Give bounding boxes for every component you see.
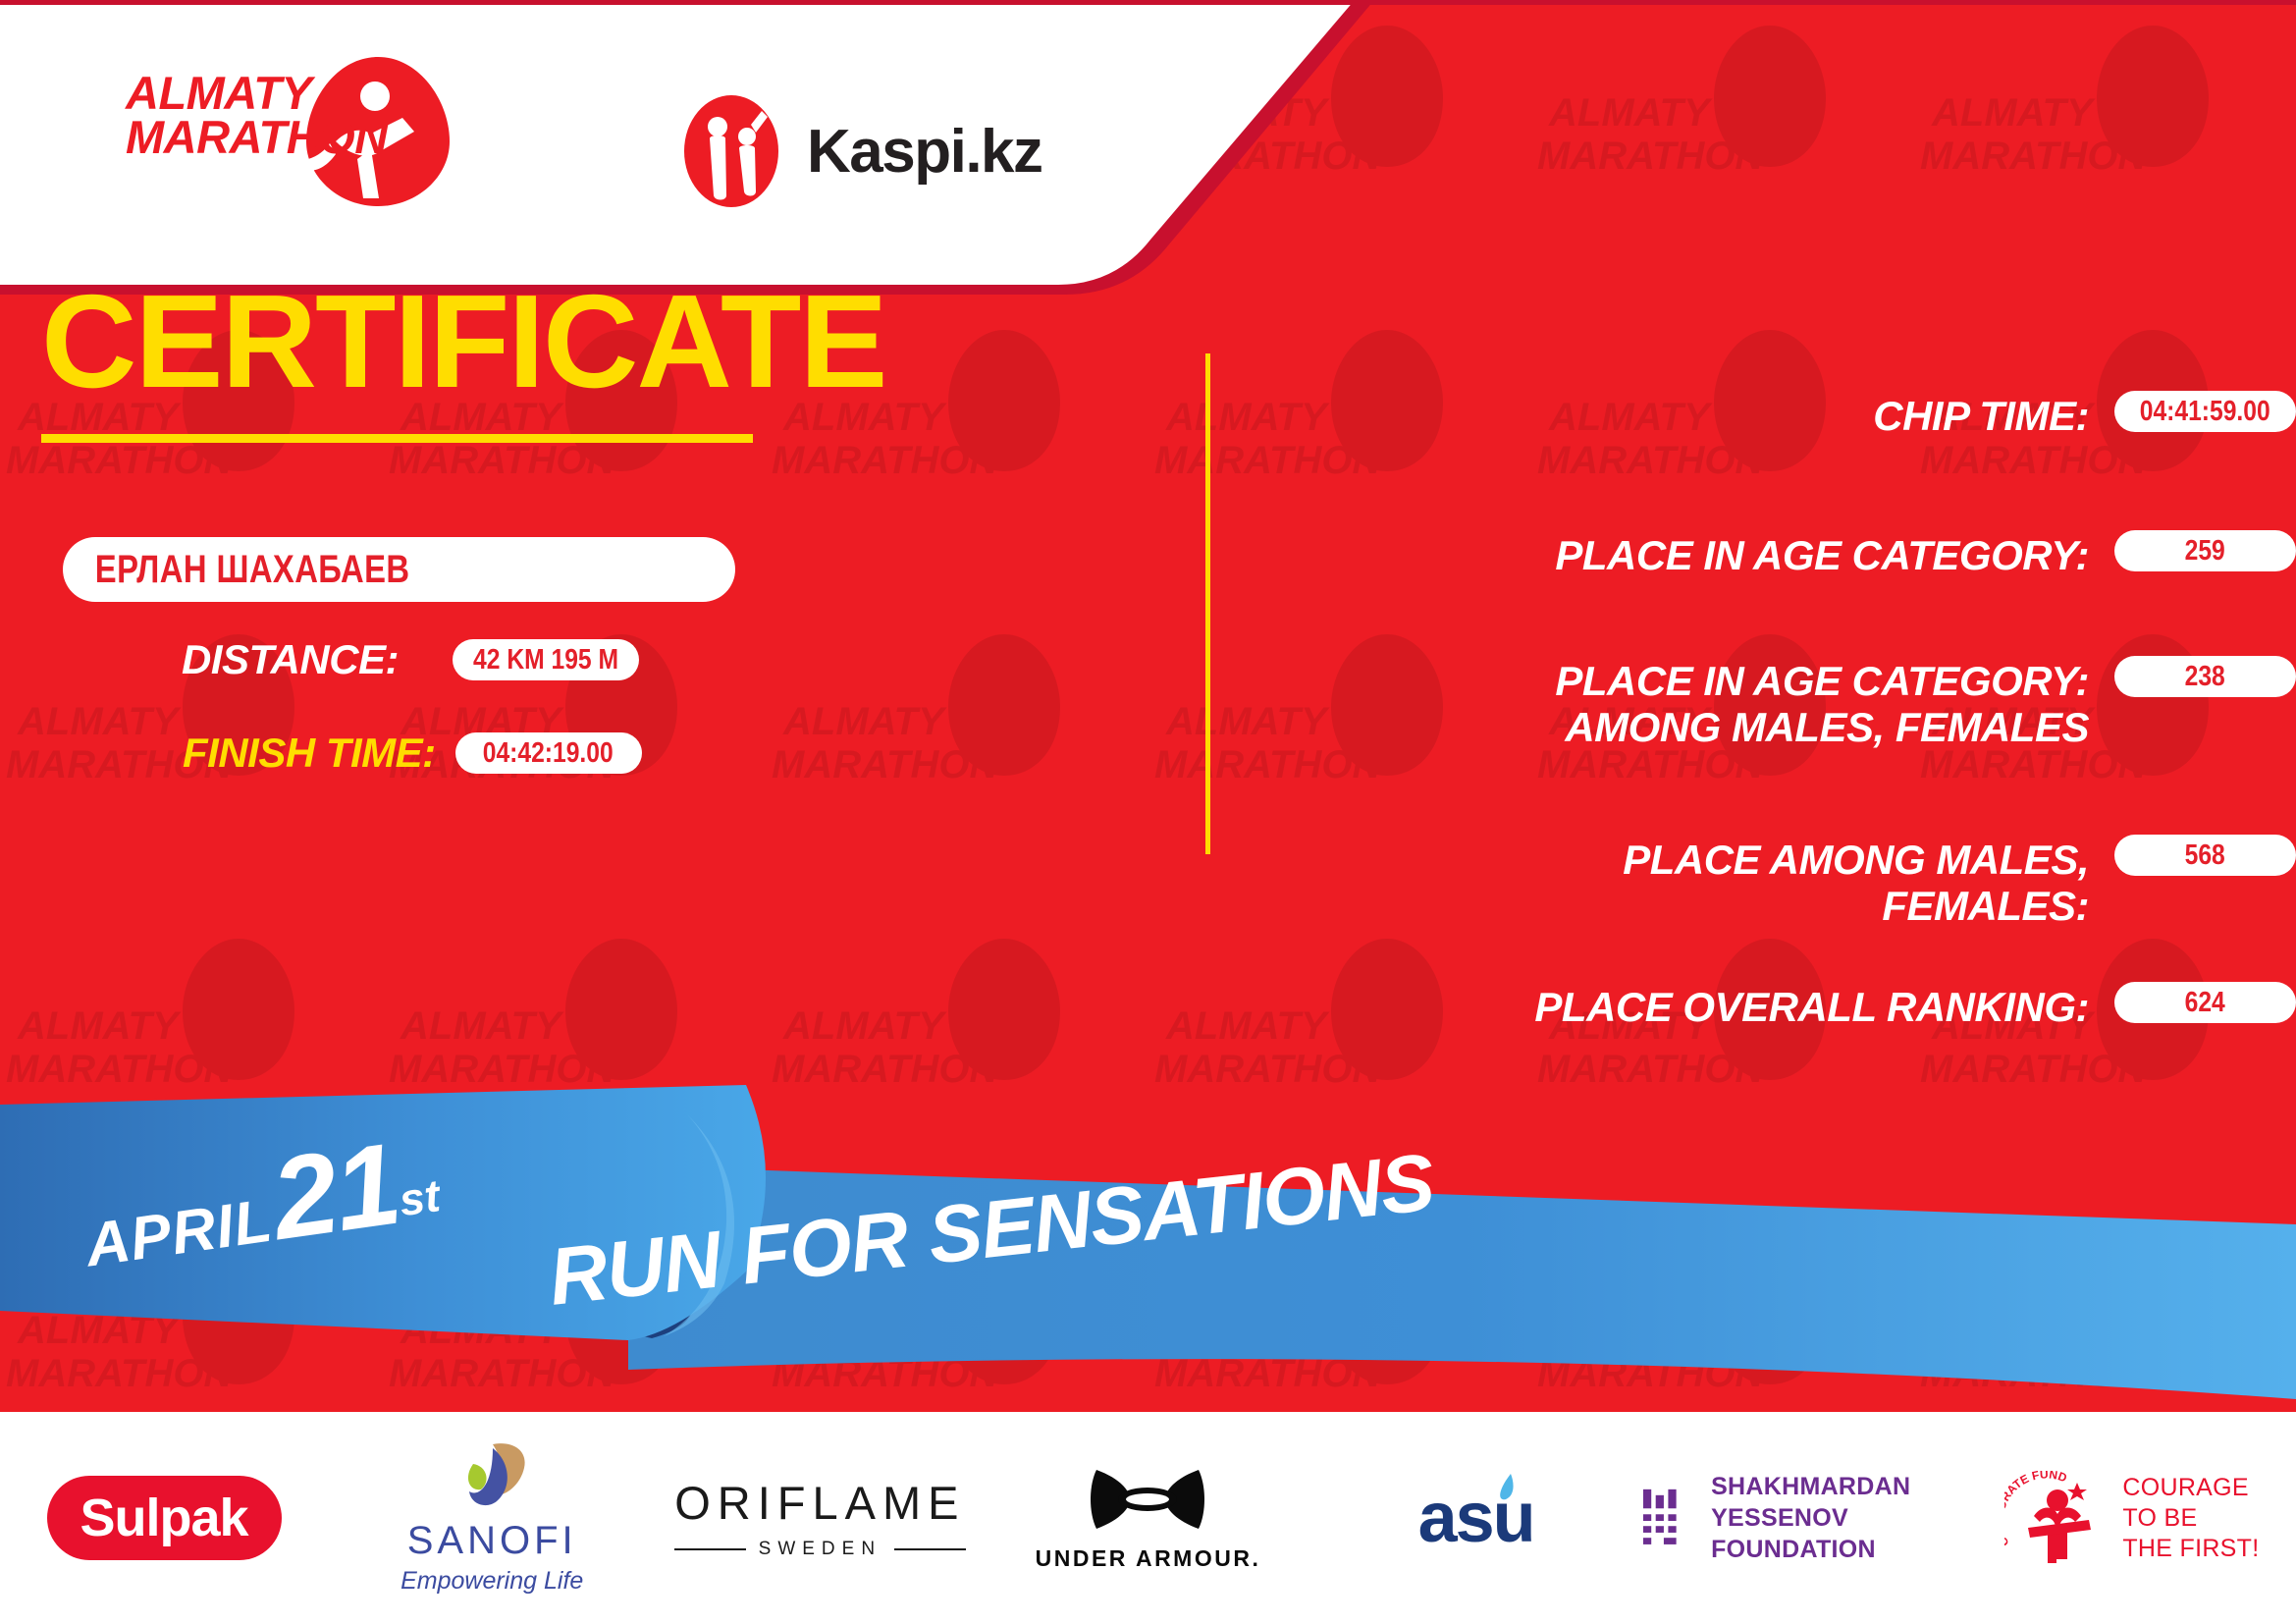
ribbon-month: APRIL — [81, 1187, 277, 1280]
place-overall-value: 624 — [2185, 987, 2225, 1019]
place-age-category-value: 259 — [2185, 535, 2225, 568]
place-age-category-row: PLACE IN AGE CATEGORY: 259 — [1232, 530, 2296, 578]
yessenov-foundation-logo-icon — [1640, 1478, 1685, 1558]
place-overall-row: PLACE OVERALL RANKING: 624 — [1232, 982, 2296, 1030]
under-armour-logo-icon — [1085, 1464, 1210, 1539]
sponsor-sanofi: SANOFI Empowering Life — [328, 1435, 656, 1601]
place-among-gender-value-pill: 568 — [2114, 835, 2296, 876]
asu-drop-icon — [1493, 1472, 1519, 1505]
kaspi-logo: Kaspi.kz — [677, 93, 1042, 209]
place-overall-label: PLACE OVERALL RANKING: — [1232, 982, 2114, 1030]
participant-name: ЕРЛАН ШАХАБАЕВ — [63, 548, 410, 592]
oriflame-label: ORIFLAME — [674, 1476, 965, 1530]
sanofi-label: SANOFI — [407, 1519, 577, 1563]
oriflame-rule-left — [674, 1548, 745, 1550]
chip-time-row: CHIP TIME: 04:41:59.00 — [1232, 391, 2296, 439]
almaty-marathon-wordmark: ALMATY MARATHON — [126, 71, 381, 159]
finish-time-row: FINISH TIME: 04:42:19.00 — [183, 730, 642, 777]
distance-value: 42 KM 195 M — [473, 644, 618, 677]
place-among-gender-value: 568 — [2185, 839, 2225, 872]
sulpak-logo-icon: Sulpak — [47, 1476, 282, 1560]
sulpak-label: Sulpak — [80, 1488, 248, 1548]
place-age-category-gender-value: 238 — [2185, 661, 2225, 693]
distance-value-pill: 42 KM 195 M — [453, 639, 639, 680]
sponsor-oriflame: ORIFLAME SWEDEN — [656, 1435, 984, 1601]
oriflame-tagline: SWEDEN — [759, 1539, 881, 1560]
finish-time-value-pill: 04:42:19.00 — [455, 732, 642, 774]
finish-time-label: FINISH TIME: — [183, 730, 436, 777]
chip-time-value: 04:41:59.00 — [2140, 396, 2270, 428]
sanofi-logo-icon — [454, 1440, 530, 1515]
yessenov-foundation-label: SHAKHMARDAN YESSENOVFOUNDATION — [1711, 1471, 1968, 1565]
courage-fund-label: COURAGETO BETHE FIRST! — [2122, 1473, 2259, 1564]
ribbon-day: 21 — [264, 1119, 405, 1265]
almaty-marathon-line2: MARATHON — [126, 115, 381, 159]
courage-fund-logo-icon: CORPORATE FUND — [2004, 1471, 2110, 1565]
page-title: CERTIFICATE — [41, 275, 885, 407]
chip-time-label: CHIP TIME: — [1232, 391, 2114, 439]
ribbon-day-suffix: st — [396, 1169, 443, 1225]
place-among-gender-label: PLACE AMONG MALES,FEMALES: — [1232, 835, 2114, 929]
header-logos: ALMATY MARATHON Kaspi.kz — [0, 0, 1178, 285]
chip-time-value-pill: 04:41:59.00 — [2114, 391, 2296, 432]
place-age-category-value-pill: 259 — [2114, 530, 2296, 571]
distance-label: DISTANCE: — [182, 636, 399, 683]
header: ALMATY MARATHON Kaspi.kz — [0, 0, 2296, 295]
place-age-category-gender-row: PLACE IN AGE CATEGORY:AMONG MALES, FEMAL… — [1232, 656, 2296, 750]
place-age-category-label: PLACE IN AGE CATEGORY: — [1232, 530, 2114, 578]
place-age-category-gender-label: PLACE IN AGE CATEGORY:AMONG MALES, FEMAL… — [1232, 656, 2114, 750]
kaspi-wordmark: Kaspi.kz — [807, 117, 1042, 187]
kaspi-icon — [677, 93, 785, 209]
title-underline — [41, 434, 753, 443]
finish-time-value: 04:42:19.00 — [483, 737, 614, 770]
sponsor-asu: asu — [1312, 1435, 1640, 1601]
sponsor-under-armour: UNDER ARMOUR. — [984, 1435, 1311, 1601]
place-age-category-gender-value-pill: 238 — [2114, 656, 2296, 697]
sponsor-sulpak: Sulpak — [0, 1435, 328, 1601]
certificate-canvas: ALMATY MARATHON ALMATY MARATH — [0, 0, 2296, 1624]
under-armour-label: UNDER ARMOUR. — [1036, 1545, 1261, 1572]
sponsor-courage-fund: CORPORATE FUND COURAGETO BETHE FIRST! — [1968, 1435, 2296, 1601]
place-overall-value-pill: 624 — [2114, 982, 2296, 1023]
oriflame-logo-icon: ORIFLAME SWEDEN — [674, 1476, 965, 1560]
participant-name-field: ЕРЛАН ШАХАБАЕВ — [63, 537, 735, 602]
almaty-marathon-line1: ALMATY — [126, 71, 381, 115]
oriflame-rule-right — [894, 1548, 965, 1550]
distance-row: DISTANCE: 42 KM 195 M — [182, 636, 639, 683]
sponsor-bar: Sulpak SANOFI Empowering Life ORIFLAME S… — [0, 1412, 2296, 1624]
sanofi-tagline: Empowering Life — [400, 1567, 583, 1596]
sponsor-yessenov-foundation: SHAKHMARDAN YESSENOVFOUNDATION — [1640, 1435, 1968, 1601]
asu-logo-icon: asu — [1418, 1478, 1534, 1558]
column-divider — [1205, 353, 1210, 854]
place-among-gender-row: PLACE AMONG MALES,FEMALES: 568 — [1232, 835, 2296, 929]
